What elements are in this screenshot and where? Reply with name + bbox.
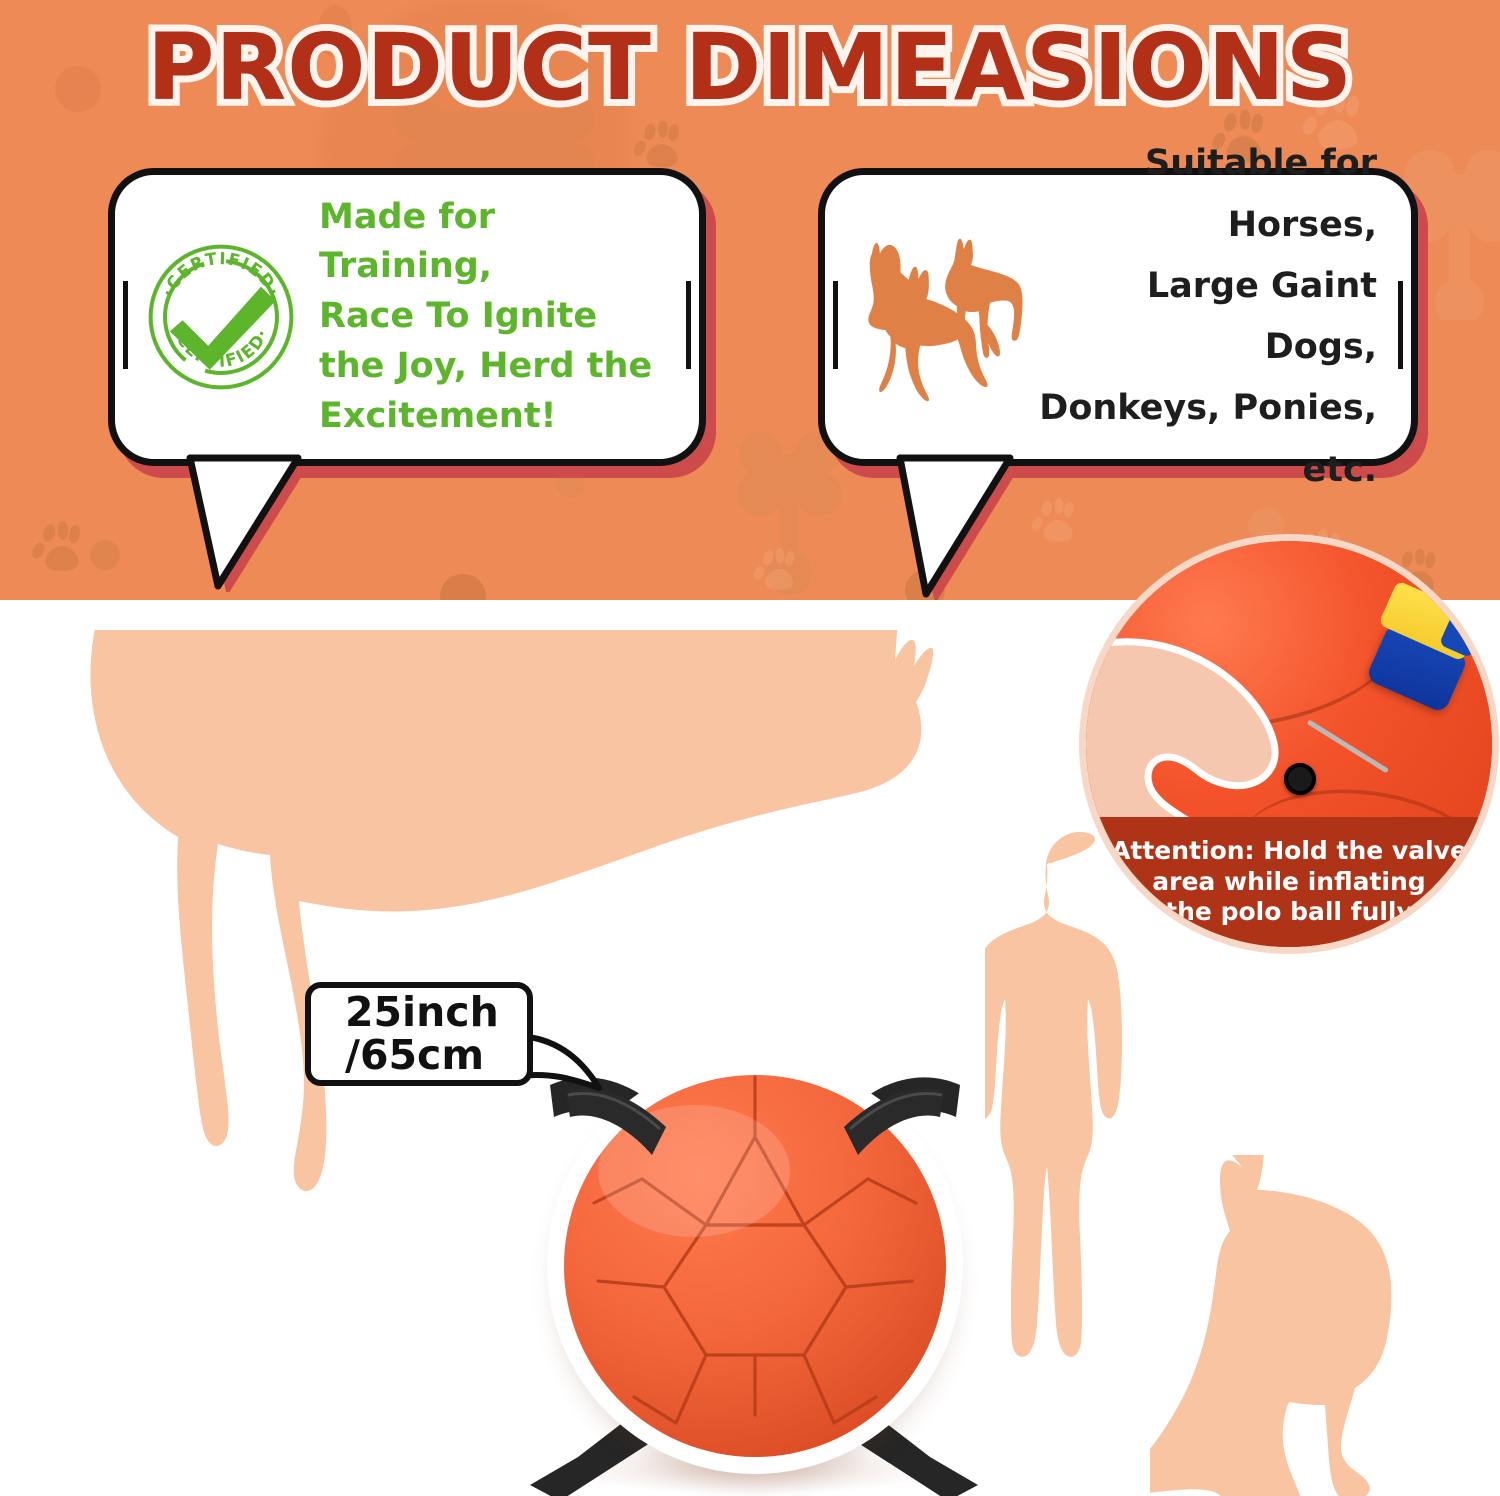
strap-top-right-front	[830, 1083, 950, 1173]
attention-callout: Attention: Hold the valve area while inf…	[1079, 534, 1499, 954]
bubble-line: the Joy, Herd the	[319, 342, 673, 392]
attention-line: Attention: Hold the valve	[1111, 836, 1467, 867]
size-callout: 25inch /65cm	[305, 982, 533, 1086]
size-line-inches: 25inch	[345, 991, 527, 1034]
paw-print-icon	[30, 512, 96, 578]
certified-check-icon: ·CERTIFIED· ·CERTIFIED·	[141, 237, 301, 397]
bubble-line: Suitable for Horses,	[1026, 133, 1377, 256]
quote-tick-left	[123, 281, 128, 369]
animal-silhouettes-icon	[851, 225, 1026, 410]
dog-silhouette	[1150, 1155, 1400, 1496]
quote-tick-left	[833, 281, 838, 369]
product-dimensions-infographic: PRODUCT DIMEASIONS PRODUCT DIMEASIONS ·C…	[0, 0, 1500, 1496]
quote-tick-right	[1398, 281, 1403, 369]
attention-line: area while inflating	[1111, 867, 1467, 898]
orange-polo-ball	[530, 1045, 980, 1496]
bubble-line: Race To Ignite	[319, 292, 673, 342]
bubble-body: Suitable for Horses, Large Gaint Dogs, D…	[818, 168, 1418, 466]
training-bubble: ·CERTIFIED· ·CERTIFIED· Made for Trainin…	[108, 168, 706, 466]
paw-print-icon	[632, 112, 694, 174]
quote-tick-right	[686, 281, 691, 369]
bubble-body: ·CERTIFIED· ·CERTIFIED· Made for Trainin…	[108, 168, 706, 466]
valve-hole	[1284, 763, 1316, 795]
attention-line: the polo ball fully	[1111, 897, 1467, 928]
size-line-cm: /65cm	[345, 1034, 527, 1077]
background-dot	[440, 574, 486, 600]
bubble-line: Made for Training,	[319, 193, 673, 292]
bubble-tail	[888, 452, 1048, 600]
suitable-bubble: Suitable for Horses, Large Gaint Dogs, D…	[818, 168, 1418, 466]
bubble-line: Donkeys, Ponies, etc.	[1026, 378, 1377, 501]
bubble-line: Large Gaint Dogs,	[1026, 256, 1377, 379]
bubble-line: Excitement!	[319, 392, 673, 442]
attention-text: Attention: Hold the valve area while inf…	[1095, 836, 1483, 928]
bubble-tail	[178, 452, 338, 592]
paw-print-icon	[752, 540, 808, 596]
page-title: PRODUCT DIMEASIONS	[0, 14, 1500, 121]
attention-banner: Attention: Hold the valve area while inf…	[1086, 817, 1492, 947]
